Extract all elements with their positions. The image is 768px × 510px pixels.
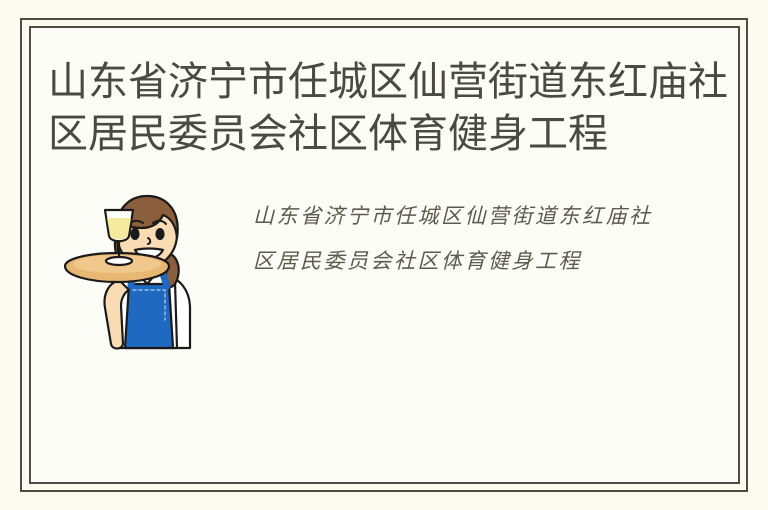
body-paragraph: 山东省济宁市任城区仙营街道东红庙社区居民委员会社区体育健身工程 — [253, 194, 673, 284]
inner-frame-border: 山东省济宁市任城区仙营街道东红庙社区居民委员会社区体育健身工程 — [29, 26, 740, 484]
poster-page: 山东省济宁市任城区仙营街道东红庙社区居民委员会社区体育健身工程 — [0, 0, 768, 510]
page-title: 山东省济宁市任城区仙营街道东红庙社区居民委员会社区体育健身工程 — [48, 56, 740, 168]
waitress-with-tray-icon — [63, 188, 203, 378]
content-row: 山东省济宁市任城区仙营街道东红庙社区居民委员会社区体育健身工程 — [49, 180, 719, 378]
